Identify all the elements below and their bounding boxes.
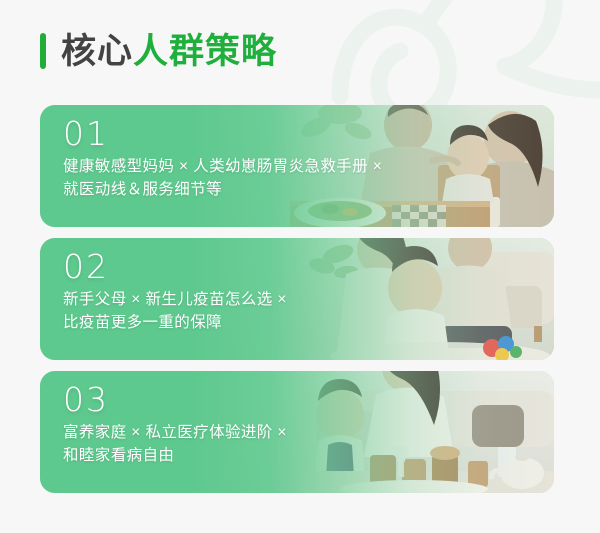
- page-header: 核心人群策略: [40, 28, 277, 74]
- card-list: 01 健康敏感型妈妈 × 人类幼崽肠胃炎急救手册 × 就医动线＆服务细节等: [40, 105, 554, 493]
- card-number-01: 01: [63, 117, 544, 152]
- card-text-01: 健康敏感型妈妈 × 人类幼崽肠胃炎急救手册 × 就医动线＆服务细节等: [63, 156, 544, 202]
- title-accent-bar: [40, 33, 46, 69]
- card-number-02: 02: [63, 250, 544, 285]
- card-number-03: 03: [63, 383, 544, 418]
- card-text-02: 新手父母 × 新生儿疫苗怎么选 × 比疫苗更多一重的保障: [63, 289, 544, 335]
- card-body-01: 01 健康敏感型妈妈 × 人类幼崽肠胃炎急救手册 × 就医动线＆服务细节等: [63, 117, 544, 202]
- page-title-dark: 核心: [61, 32, 133, 71]
- card-text-03: 富养家庭 × 私立医疗体验进阶 × 和睦家看病自由: [63, 422, 544, 468]
- strategy-card-03[interactable]: 03 富养家庭 × 私立医疗体验进阶 × 和睦家看病自由: [40, 371, 554, 493]
- card-body-02: 02 新手父母 × 新生儿疫苗怎么选 × 比疫苗更多一重的保障: [63, 250, 544, 335]
- poster-root: 核心人群策略: [0, 0, 600, 533]
- strategy-card-01[interactable]: 01 健康敏感型妈妈 × 人类幼崽肠胃炎急救手册 × 就医动线＆服务细节等: [40, 105, 554, 227]
- page-title: 核心人群策略: [61, 34, 277, 69]
- strategy-card-02[interactable]: 02 新手父母 × 新生儿疫苗怎么选 × 比疫苗更多一重的保障: [40, 238, 554, 360]
- page-title-green: 人群策略: [133, 32, 277, 71]
- card-body-03: 03 富养家庭 × 私立医疗体验进阶 × 和睦家看病自由: [63, 383, 544, 468]
